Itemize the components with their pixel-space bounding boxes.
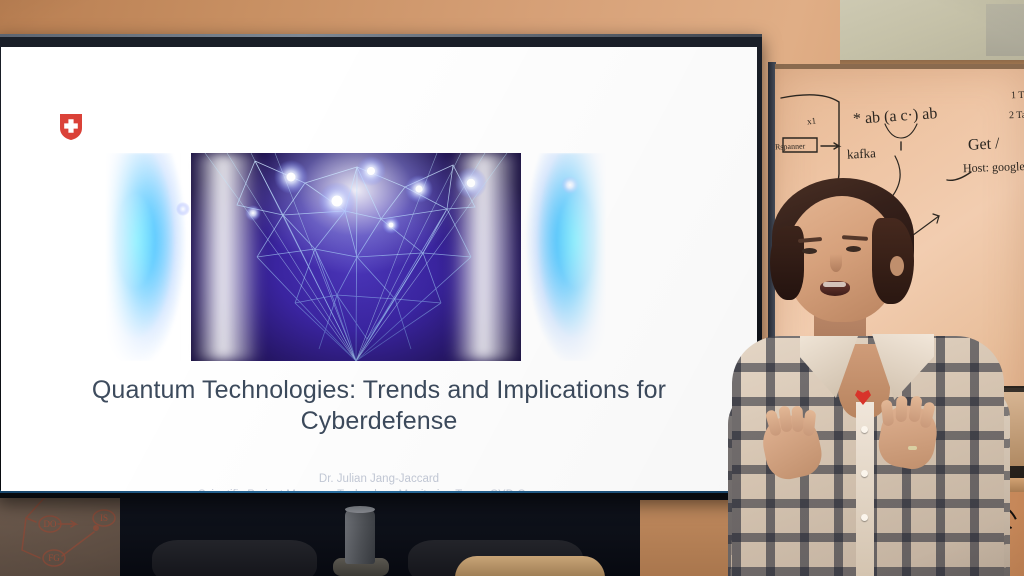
ring	[908, 446, 917, 450]
teeth	[823, 282, 846, 287]
hair-left	[770, 226, 804, 300]
whiteboard-note: 1 Te	[1011, 90, 1024, 102]
hero-fade-right	[537, 153, 607, 361]
whiteboard-note: x1	[807, 116, 817, 127]
ear	[890, 256, 904, 276]
speaker-top-cap	[345, 506, 375, 513]
table-edge	[455, 556, 605, 576]
finger	[792, 406, 804, 432]
ceiling-panel	[986, 4, 1024, 56]
shirt-button	[861, 514, 868, 521]
tv-screen: Quantum Technologies: Trends and Implica…	[1, 47, 757, 491]
tv-bezel-top-highlight	[0, 34, 762, 37]
whiteboard-note: Rspanner	[775, 141, 806, 151]
nose	[830, 254, 842, 272]
hero-mesh-lines	[105, 153, 607, 361]
presentation-slide: Quantum Technologies: Trends and Implica…	[1, 47, 757, 491]
whiteboard-note: 2 Ta	[1009, 110, 1024, 122]
svg-text:FG: FG	[48, 553, 60, 563]
slide-title-line-1: Quantum Technologies: Trends and Implica…	[92, 376, 666, 404]
eye-right	[846, 246, 861, 252]
wall-mounted-tv: Quantum Technologies: Trends and Implica…	[0, 34, 762, 498]
svg-text:DO: DO	[44, 519, 57, 529]
presenter-role: Scientific Project Manager, Technology M…	[31, 487, 727, 491]
finger	[896, 396, 908, 422]
hero-fade-left	[105, 153, 175, 361]
chair-back-left	[152, 540, 317, 576]
whiteboard-note: Get /	[968, 135, 1000, 155]
whiteboard-top-frame	[775, 64, 1024, 69]
slide-title-line-2: Cyberdefense	[301, 407, 458, 435]
shirt-button	[861, 470, 868, 477]
presenter-name: Dr. Julian Jang-Jaccard	[31, 471, 727, 487]
presentation-scene: x1Rspannerkafka* ab (a c·) abGet /Host: …	[0, 0, 1024, 576]
slide-subtitle-block: Dr. Julian Jang-Jaccard Scientific Proje…	[31, 471, 727, 491]
whiteboard-note: * ab (a c·) ab	[852, 105, 937, 129]
quantum-mesh-hero-image	[105, 153, 607, 361]
slide-title: Quantum Technologies: Trends and Implica…	[31, 375, 727, 437]
svg-text:IS: IS	[100, 513, 108, 523]
presenter	[722, 178, 1024, 576]
conference-speaker	[345, 508, 375, 564]
shirt-button	[861, 426, 868, 433]
whiteboard-note: kafka	[847, 145, 877, 162]
eye-left	[802, 248, 817, 254]
whiteboard-note: Host: google.c	[963, 159, 1024, 176]
swiss-confederation-shield-icon	[59, 113, 83, 141]
